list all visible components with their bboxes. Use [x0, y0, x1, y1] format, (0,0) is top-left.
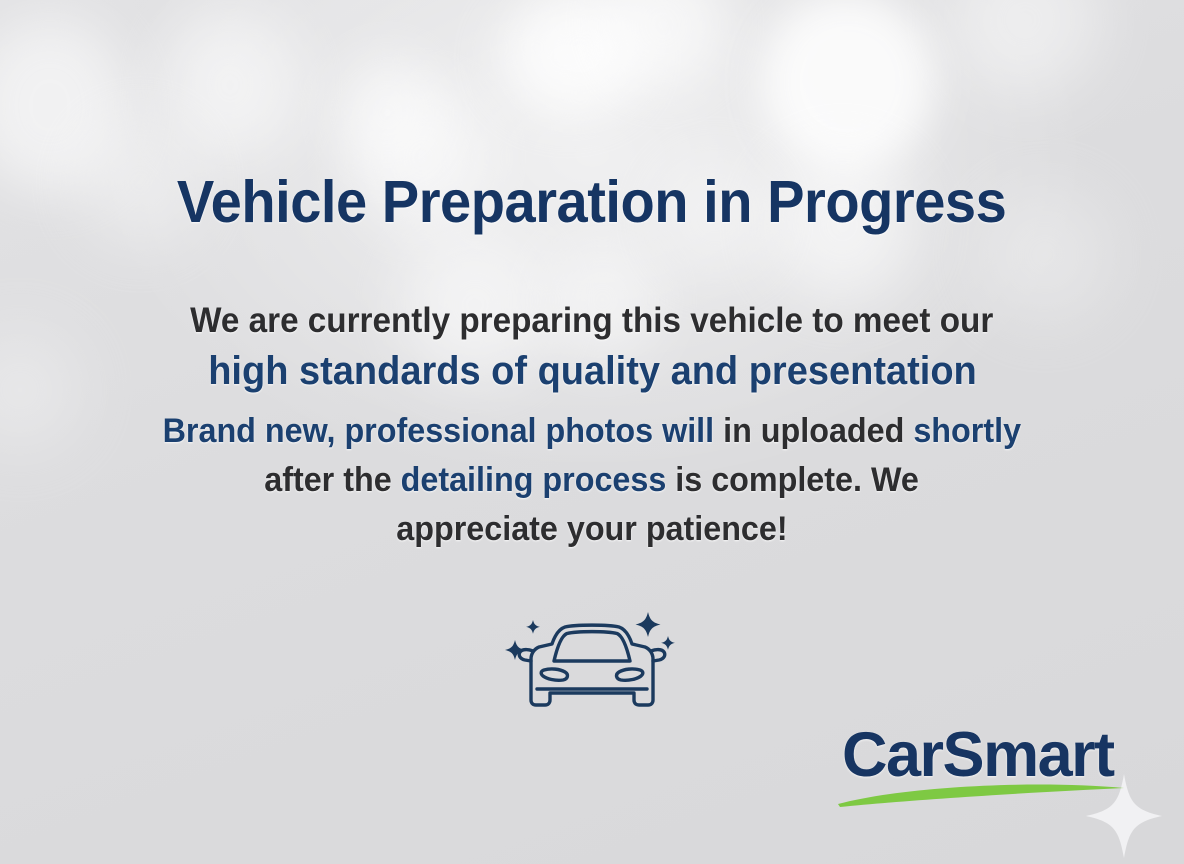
promo-card: Vehicle Preparation in Progress We are c…	[0, 0, 1184, 864]
message-line-3-part-b: in uploaded	[723, 412, 904, 450]
message-line-4-part-c: is complete. We	[676, 461, 920, 499]
logo-swoosh	[836, 782, 1126, 808]
sparkle-icon	[526, 620, 540, 634]
carsmart-logo: CarSmart	[836, 724, 1146, 844]
message-line-2: high standards of quality and presentati…	[208, 349, 977, 394]
logo-wordmark: CarSmart	[842, 724, 1114, 787]
page-title: Vehicle Preparation in Progress	[177, 168, 1006, 236]
message-line-3: Brand new, professional photos will in u…	[163, 412, 1021, 451]
sparkle-group	[505, 612, 675, 660]
sparkle-icon	[636, 612, 661, 637]
message-line-4-part-b: detailing process	[401, 461, 667, 499]
message-line-3-part-a: Brand new, professional photos will	[163, 412, 715, 450]
message-line-5: appreciate your patience!	[396, 510, 787, 549]
message-line-1: We are currently preparing this vehicle …	[190, 301, 993, 341]
message-line-4: after the detailing process is complete.…	[265, 461, 920, 500]
message-line-3-part-c: shortly	[914, 412, 1022, 450]
message-line-4-part-a: after the	[265, 461, 392, 499]
sparkling-car-icon-svg	[497, 604, 687, 724]
sparkling-car-icon	[0, 604, 1184, 724]
sparkle-icon	[661, 636, 675, 650]
